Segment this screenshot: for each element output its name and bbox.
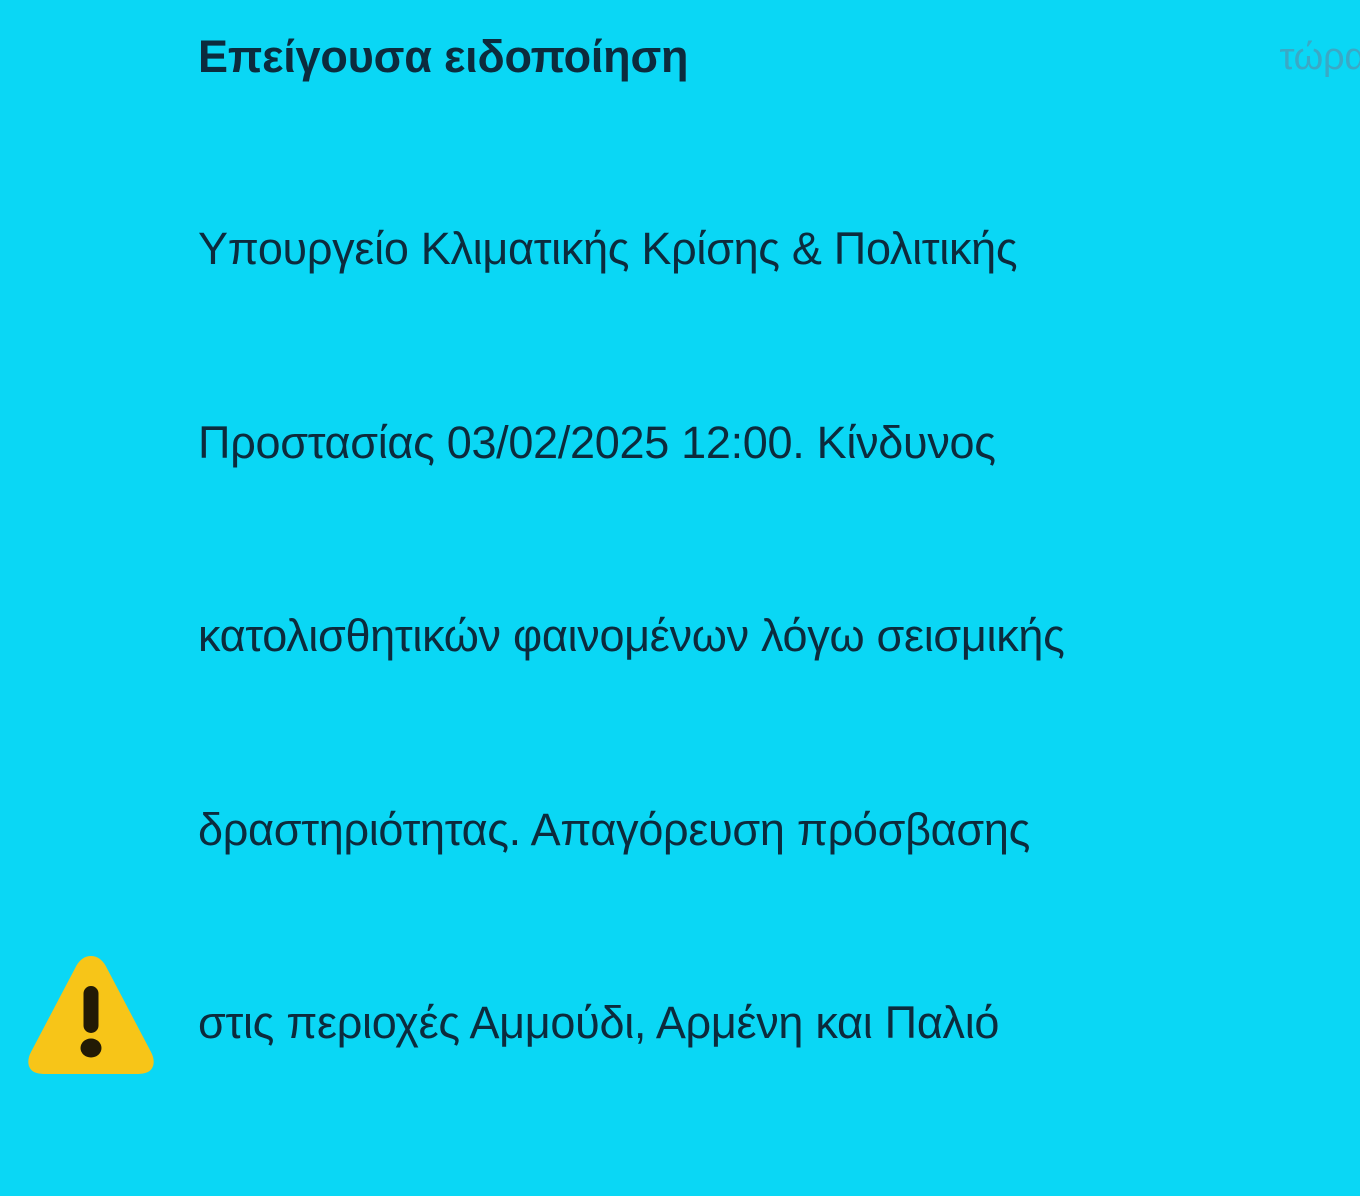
alert-title: Επείγουσα ειδοποίηση: [198, 26, 688, 88]
alert-message-line: Λιμάνι Φηρών στη νήσο Θήρα. Ακολουθήστε: [198, 1185, 1360, 1196]
alert-message-line: Υπουργείο Κλιματικής Κρίσης & Πολιτικής: [198, 217, 1360, 282]
alert-message: Υπουργείο Κλιματικής Κρίσης & Πολιτικής …: [198, 88, 1360, 1196]
emergency-alert-screen: Επείγουσα ειδοποίηση τώρα Υπουργείο Κλιμ…: [0, 0, 1360, 1196]
alert-message-line: στις περιοχές Αμμούδι, Αρμένη και Παλιό: [198, 991, 1360, 1056]
warning-triangle-icon: [22, 948, 160, 1080]
alert-header: Επείγουσα ειδοποίηση τώρα: [198, 26, 1360, 88]
alert-message-line: Προστασίας 03/02/2025 12:00. Κίνδυνος: [198, 411, 1360, 476]
alert-content: Επείγουσα ειδοποίηση τώρα Υπουργείο Κλιμ…: [198, 26, 1360, 1196]
alert-message-line: κατολισθητικών φαινομένων λόγω σεισμικής: [198, 604, 1360, 669]
alert-timestamp: τώρα: [1279, 26, 1360, 88]
alert-message-line: δραστηριότητας. Απαγόρευση πρόσβασης: [198, 798, 1360, 863]
